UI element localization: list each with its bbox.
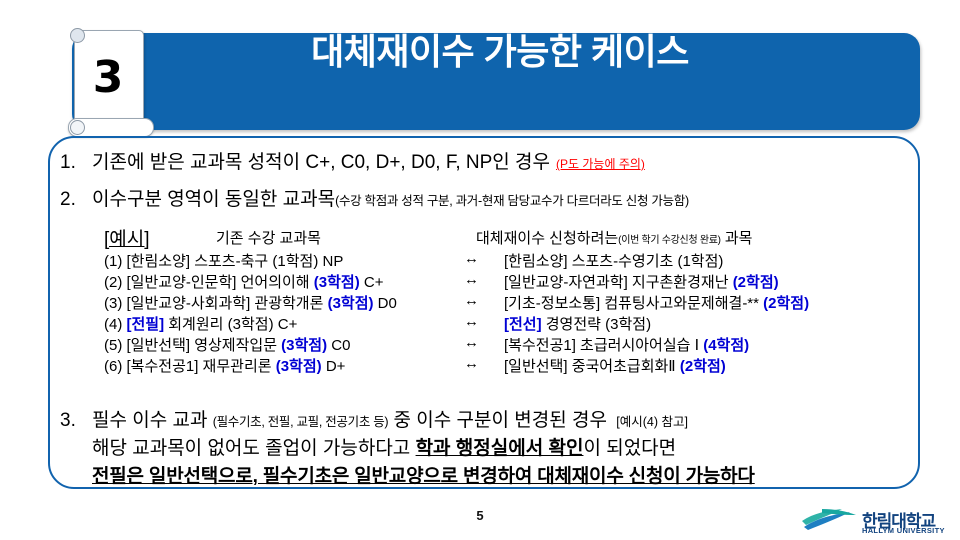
example-row-right: [전선] 경영전략 (3학점) [504,313,651,334]
course-category-tag: [기초-정보소통] [504,295,604,312]
list-item-3-line2-a: 해당 교과목이 없어도 졸업이 가능하다고 [92,438,416,459]
example-row-left: (5) [일반선택] 영상제작입문 (3학점) C0 [104,334,350,355]
list-item-3-line1-paren: (필수기초, 전필, 교필, 전공기초 등) [213,415,389,429]
course-credit: (2학점) [733,274,779,291]
course-credit: (3학점) [228,316,274,333]
example-row: (4) [전필] 회계원리 (3학점) C+↔[전선] 경영전략 (3학점) [104,313,924,334]
course-category-tag: [일반교양-인문학] [127,274,241,291]
list-item-1-text: 기존에 받은 교과목 성적이 C+, C0, D+, D0, F, NP인 경우 [92,152,550,173]
exchange-arrow-icon: ↔ [464,355,479,372]
example-row-index: (4) [104,316,127,333]
example-row-index: (6) [104,358,127,375]
course-credit: (3학점) [276,358,322,375]
course-credit: (3학점) [605,316,651,333]
course-category-tag: [일반교양-자연과학] [504,274,632,291]
list-item-1-body: 기존에 받은 교과목 성적이 C+, C0, D+, D0, F, NP인 경우… [92,150,645,177]
exchange-arrow-icon: ↔ [464,250,479,267]
page-title: 대체재이수 가능한 케이스 [180,0,820,97]
example-row-left: (1) [한림소양] 스포츠-축구 (1학점) NP [104,250,343,271]
exchange-arrow-icon: ↔ [464,313,479,330]
example-row-index: (5) [104,337,127,354]
section-number: 3 [74,30,142,124]
example-row-left: (3) [일반교양-사회과학] 관광학개론 (3학점) D0 [104,292,397,313]
example-column-header-left: 기존 수강 교과목 [216,227,321,248]
list-item-1-number: 1. [60,150,92,176]
list-item-3-body: 필수 이수 교과 (필수기초, 전필, 교필, 전공기초 등) 중 이수 구분이… [92,408,755,491]
example-row-index: (3) [104,295,127,312]
list-item-3-line1: 필수 이수 교과 (필수기초, 전필, 교필, 전공기초 등) 중 이수 구분이… [92,408,755,435]
example-block: [예시] 기존 수강 교과목 대체재이수 신청하려는(이번 학기 수강신청 완료… [104,224,924,376]
course-name: 회계원리 [164,316,228,333]
list-item-1: 1. 기존에 받은 교과목 성적이 C+, C0, D+, D0, F, NP인… [60,150,645,177]
course-credit: (1학점) [272,253,318,270]
list-item-3-line2-b: 이 되었다면 [583,438,676,459]
exchange-arrow-icon: ↔ [464,292,479,309]
example-row: (6) [복수전공1] 재무관리론 (3학점) D+↔[일반선택] 중국어초급회… [104,355,924,376]
course-name: 언어의이해 [241,274,314,291]
course-category-tag: [전선] [504,316,542,333]
hallym-university-logo: 한림대학교 HALLYM UNIVERSITY [800,505,948,539]
example-row-left: (4) [전필] 회계원리 (3학점) C+ [104,313,297,334]
list-item-3-line2-emphasis: 학과 행정실에서 확인 [416,438,584,459]
example-row-index: (2) [104,274,127,291]
course-category-tag: [일반교양-사회과학] [127,295,255,312]
course-category-tag: [일반선택] [504,358,572,375]
list-item-1-warning-note: (P도 가능에 주의) [556,157,645,171]
course-name: 지구촌환경재난 [632,274,733,291]
list-item-2-body: 이수구분 영역이 동일한 교과목(수강 학점과 성적 구분, 과거-현재 담당교… [92,187,689,214]
example-row: (5) [일반선택] 영상제작입문 (3학점) C0↔[복수전공1] 초급러시아… [104,334,924,355]
course-category-tag: [한림소양] [504,253,572,270]
example-row: (3) [일반교양-사회과학] 관광학개론 (3학점) D0↔[기초-정보소통]… [104,292,924,313]
course-name: 컴퓨팅사고와문제해결-** [604,295,763,312]
course-name: 초급러시아어실습 Ⅰ [580,337,703,354]
example-row-index: (1) [104,253,127,270]
course-credit: (2학점) [763,295,809,312]
section-number-badge: 3 [66,26,154,138]
scroll-curl-knob-top [70,28,85,43]
course-credit: (3학점) [281,337,327,354]
example-row-right: [일반교양-자연과학] 지구촌환경재난 (2학점) [504,271,779,292]
list-item-3-line1-ref: [예시(4) 참고] [616,415,688,429]
example-row-left: (6) [복수전공1] 재무관리론 (3학점) D+ [104,355,345,376]
example-label: [예시] [104,224,150,251]
course-name: 스포츠-축구 [194,253,272,270]
course-name: 스포츠-수영기초 [572,253,678,270]
example-column-header-right-suffix: 과목 [721,230,753,247]
course-category-tag: [전필] [127,316,165,333]
course-name: 관광학개론 [254,295,327,312]
list-item-3-line2: 해당 교과목이 없어도 졸업이 가능하다고 학과 행정실에서 확인이 되었다면 [92,435,755,463]
exchange-arrow-icon: ↔ [464,334,479,351]
example-column-header-right-tiny: (이번 학기 수강신청 완료) [618,235,721,246]
course-name: 영상제작입문 [194,337,281,354]
list-item-3: 3. 필수 이수 교과 (필수기초, 전필, 교필, 전공기초 등) 중 이수 … [60,408,755,491]
list-item-3-line1-a: 필수 이수 교과 [92,410,213,431]
example-column-header-right-main: 대체재이수 신청하려는 [476,230,618,247]
example-row-right: [복수전공1] 초급러시아어실습 Ⅰ (4학점) [504,334,749,355]
course-category-tag: [한림소양] [127,253,195,270]
wave-logo-icon [800,505,860,535]
course-credit: (3학점) [328,295,374,312]
list-item-3-line3: 전필은 일반선택으로, 필수기초은 일반교양으로 변경하여 대체재이수 신청이 … [92,463,755,491]
example-rows: (1) [한림소양] 스포츠-축구 (1학점) NP↔[한림소양] 스포츠-수영… [104,250,924,376]
example-header-row: [예시] 기존 수강 교과목 대체재이수 신청하려는(이번 학기 수강신청 완료… [104,224,924,250]
example-row: (2) [일반교양-인문학] 언어의이해 (3학점) C+↔[일반교양-자연과학… [104,271,924,292]
example-row-right: [한림소양] 스포츠-수영기초 (1학점) [504,250,723,271]
example-row-left: (2) [일반교양-인문학] 언어의이해 (3학점) C+ [104,271,383,292]
logo-text-english: HALLYM UNIVERSITY [862,526,945,535]
course-category-tag: [복수전공1] [504,337,580,354]
course-grade: C+ [360,274,384,291]
example-row-right: [일반선택] 중국어초급회화Ⅱ (2학점) [504,355,726,376]
course-credit: (1학점) [677,253,723,270]
list-item-3-line1-b: 중 이수 구분이 변경된 경우 [388,410,612,431]
course-category-tag: [복수전공1] [127,358,203,375]
example-row: (1) [한림소양] 스포츠-축구 (1학점) NP↔[한림소양] 스포츠-수영… [104,250,924,271]
course-credit: (3학점) [314,274,360,291]
course-credit: (4학점) [703,337,749,354]
content-area: 1. 기존에 받은 교과목 성적이 C+, C0, D+, D0, F, NP인… [48,136,928,496]
course-grade: C0 [327,337,350,354]
list-item-2: 2. 이수구분 영역이 동일한 교과목(수강 학점과 성적 구분, 과거-현재 … [60,187,689,214]
course-name: 재무관리론 [203,358,276,375]
course-name: 중국어초급회화Ⅱ [572,358,680,375]
example-row-right: [기초-정보소통] 컴퓨팅사고와문제해결-** (2학점) [504,292,809,313]
course-grade: NP [318,253,343,270]
course-grade: C+ [274,316,298,333]
list-item-3-number: 3. [60,408,92,434]
list-item-2-text: 이수구분 영역이 동일한 교과목 [92,189,335,210]
course-grade: D0 [374,295,397,312]
list-item-2-number: 2. [60,187,92,213]
course-name: 경영전략 [542,316,606,333]
list-item-2-paren-note: (수강 학점과 성적 구분, 과거-현재 담당교수가 다르더라도 신청 가능함) [335,194,689,208]
scroll-curl-knob-bottom [70,120,85,135]
exchange-arrow-icon: ↔ [464,271,479,288]
course-category-tag: [일반선택] [127,337,195,354]
example-column-header-right: 대체재이수 신청하려는(이번 학기 수강신청 완료) 과목 [476,227,752,248]
course-grade: D+ [322,358,346,375]
course-credit: (2학점) [680,358,726,375]
